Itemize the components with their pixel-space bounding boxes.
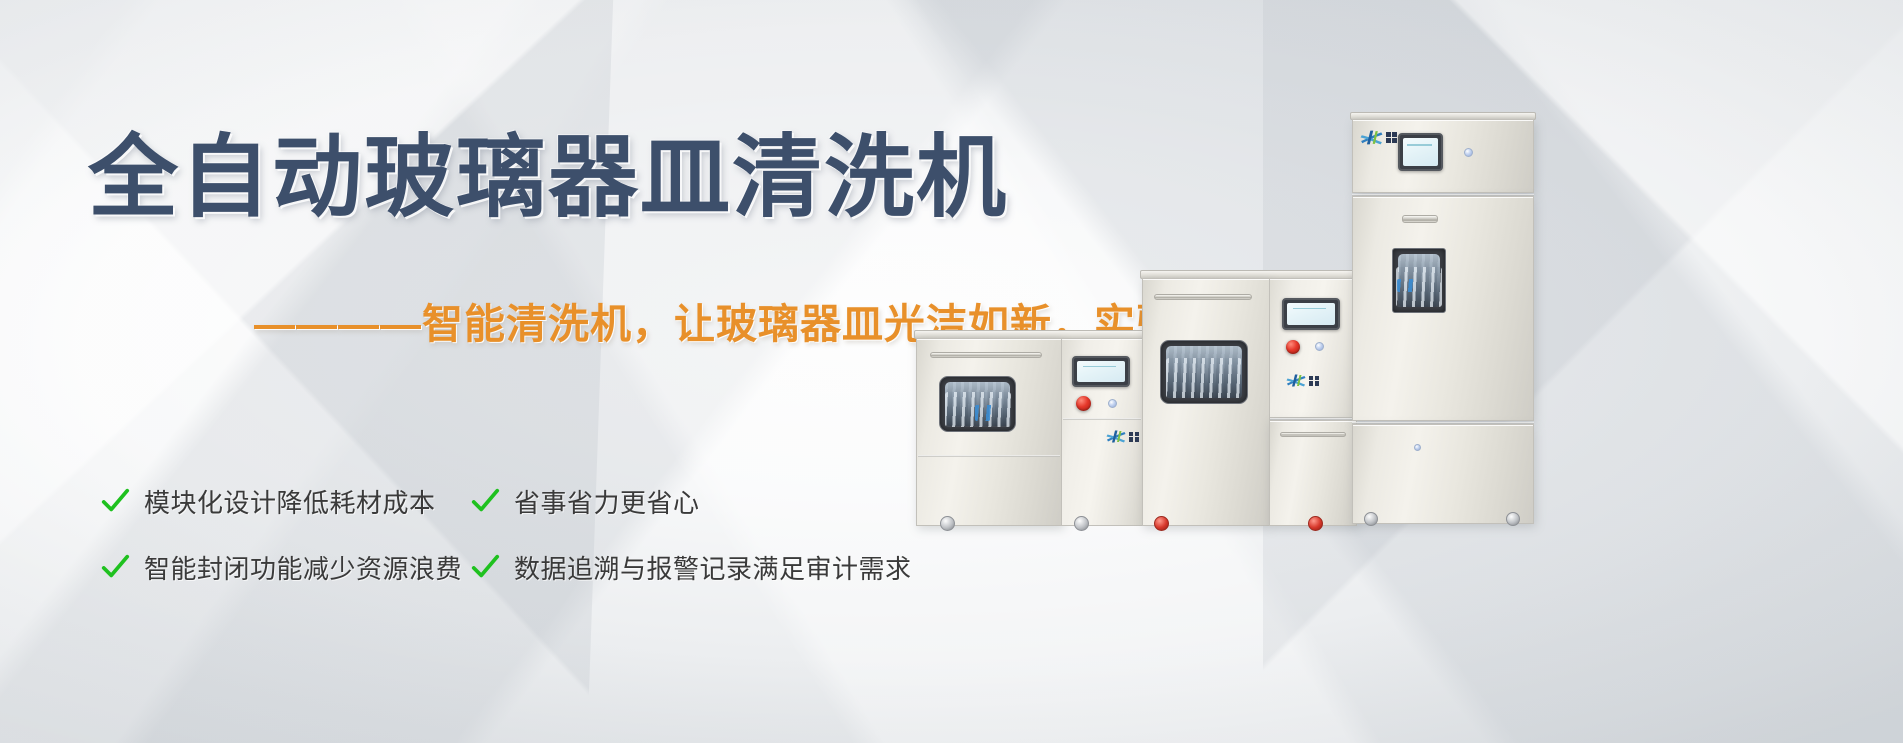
emergency-stop-button[interactable]: [1286, 340, 1300, 354]
screen-face: [1287, 303, 1335, 325]
check-icon: [470, 552, 500, 582]
check-icon: [100, 486, 130, 516]
door-handle: [1402, 215, 1438, 223]
door-handle: [930, 352, 1042, 358]
product-freestanding-washer: [1140, 270, 1358, 526]
feature-item: 模块化设计降低耗材成本: [100, 468, 460, 534]
touchscreen-display[interactable]: [1282, 298, 1340, 330]
machine-door-panel: [916, 338, 1062, 526]
emergency-stop-button[interactable]: [1076, 396, 1091, 411]
caster-wheel: [1506, 512, 1520, 526]
feature-list: 模块化设计降低耗材成本 省事省力更省心 智能封闭功能减少资源浪费 数据追溯与报警…: [100, 468, 912, 600]
screen-face: [1077, 361, 1125, 382]
product-banner: 全自动玻璃器皿清洗机 ————智能清洗机，让玻璃器皿光洁如新，实验无忧！ 模块化…: [0, 0, 1903, 743]
chamber-view-window: [939, 376, 1016, 432]
touchscreen-display[interactable]: [1398, 133, 1443, 171]
touchscreen-display[interactable]: [1072, 356, 1130, 387]
h-logo-icon: [1286, 374, 1306, 387]
power-indicator[interactable]: [1108, 399, 1117, 408]
lower-panel-handle: [1280, 432, 1346, 437]
chamber-view-window: [1392, 248, 1446, 313]
product-image-group: [900, 0, 1903, 743]
caster-wheel: [1154, 516, 1169, 531]
control-seam: [1063, 418, 1141, 420]
blue-rack-tips: [975, 405, 995, 421]
base-latch-icon: [1414, 444, 1421, 451]
product-undercounter-washer: [914, 330, 1144, 526]
power-indicator[interactable]: [1464, 148, 1473, 157]
caster-wheel: [1074, 516, 1089, 531]
caster-wheel: [940, 516, 955, 531]
feature-label: 数据追溯与报警记录满足审计需求: [514, 549, 912, 586]
check-icon: [100, 552, 130, 582]
logo-text-blocks: [1129, 432, 1139, 442]
check-icon: [470, 486, 500, 516]
brand-logo: [1360, 130, 1397, 145]
caster-wheel: [1364, 512, 1378, 526]
h-logo-icon: [1360, 130, 1383, 145]
screen-face: [1403, 138, 1438, 166]
chamber-view-window: [1160, 340, 1248, 404]
product-tall-cabinet-washer: [1350, 112, 1536, 526]
brand-logo: [1286, 374, 1319, 387]
caster-wheel: [1308, 516, 1323, 531]
door-seam: [918, 455, 1060, 457]
feature-item: 数据追溯与报警记录满足审计需求: [470, 534, 912, 600]
feature-label: 智能封闭功能减少资源浪费: [144, 549, 462, 586]
brand-logo: [1106, 430, 1139, 443]
feature-label: 省事省力更省心: [514, 483, 700, 520]
logo-text-blocks: [1309, 376, 1319, 386]
feature-item: 省事省力更省心: [470, 468, 912, 534]
machine-base-panel: [1352, 424, 1534, 524]
feature-item: 智能封闭功能减少资源浪费: [100, 534, 460, 600]
logo-text-blocks: [1386, 132, 1397, 143]
feature-label: 模块化设计降低耗材成本: [144, 483, 436, 520]
h-logo-icon: [1106, 430, 1126, 443]
power-indicator[interactable]: [1315, 342, 1324, 351]
door-handle: [1154, 294, 1252, 300]
glass-pipettes: [1166, 358, 1242, 398]
page-title: 全自动玻璃器皿清洗机: [88, 104, 1008, 234]
blue-rack-tips: [1397, 279, 1418, 292]
